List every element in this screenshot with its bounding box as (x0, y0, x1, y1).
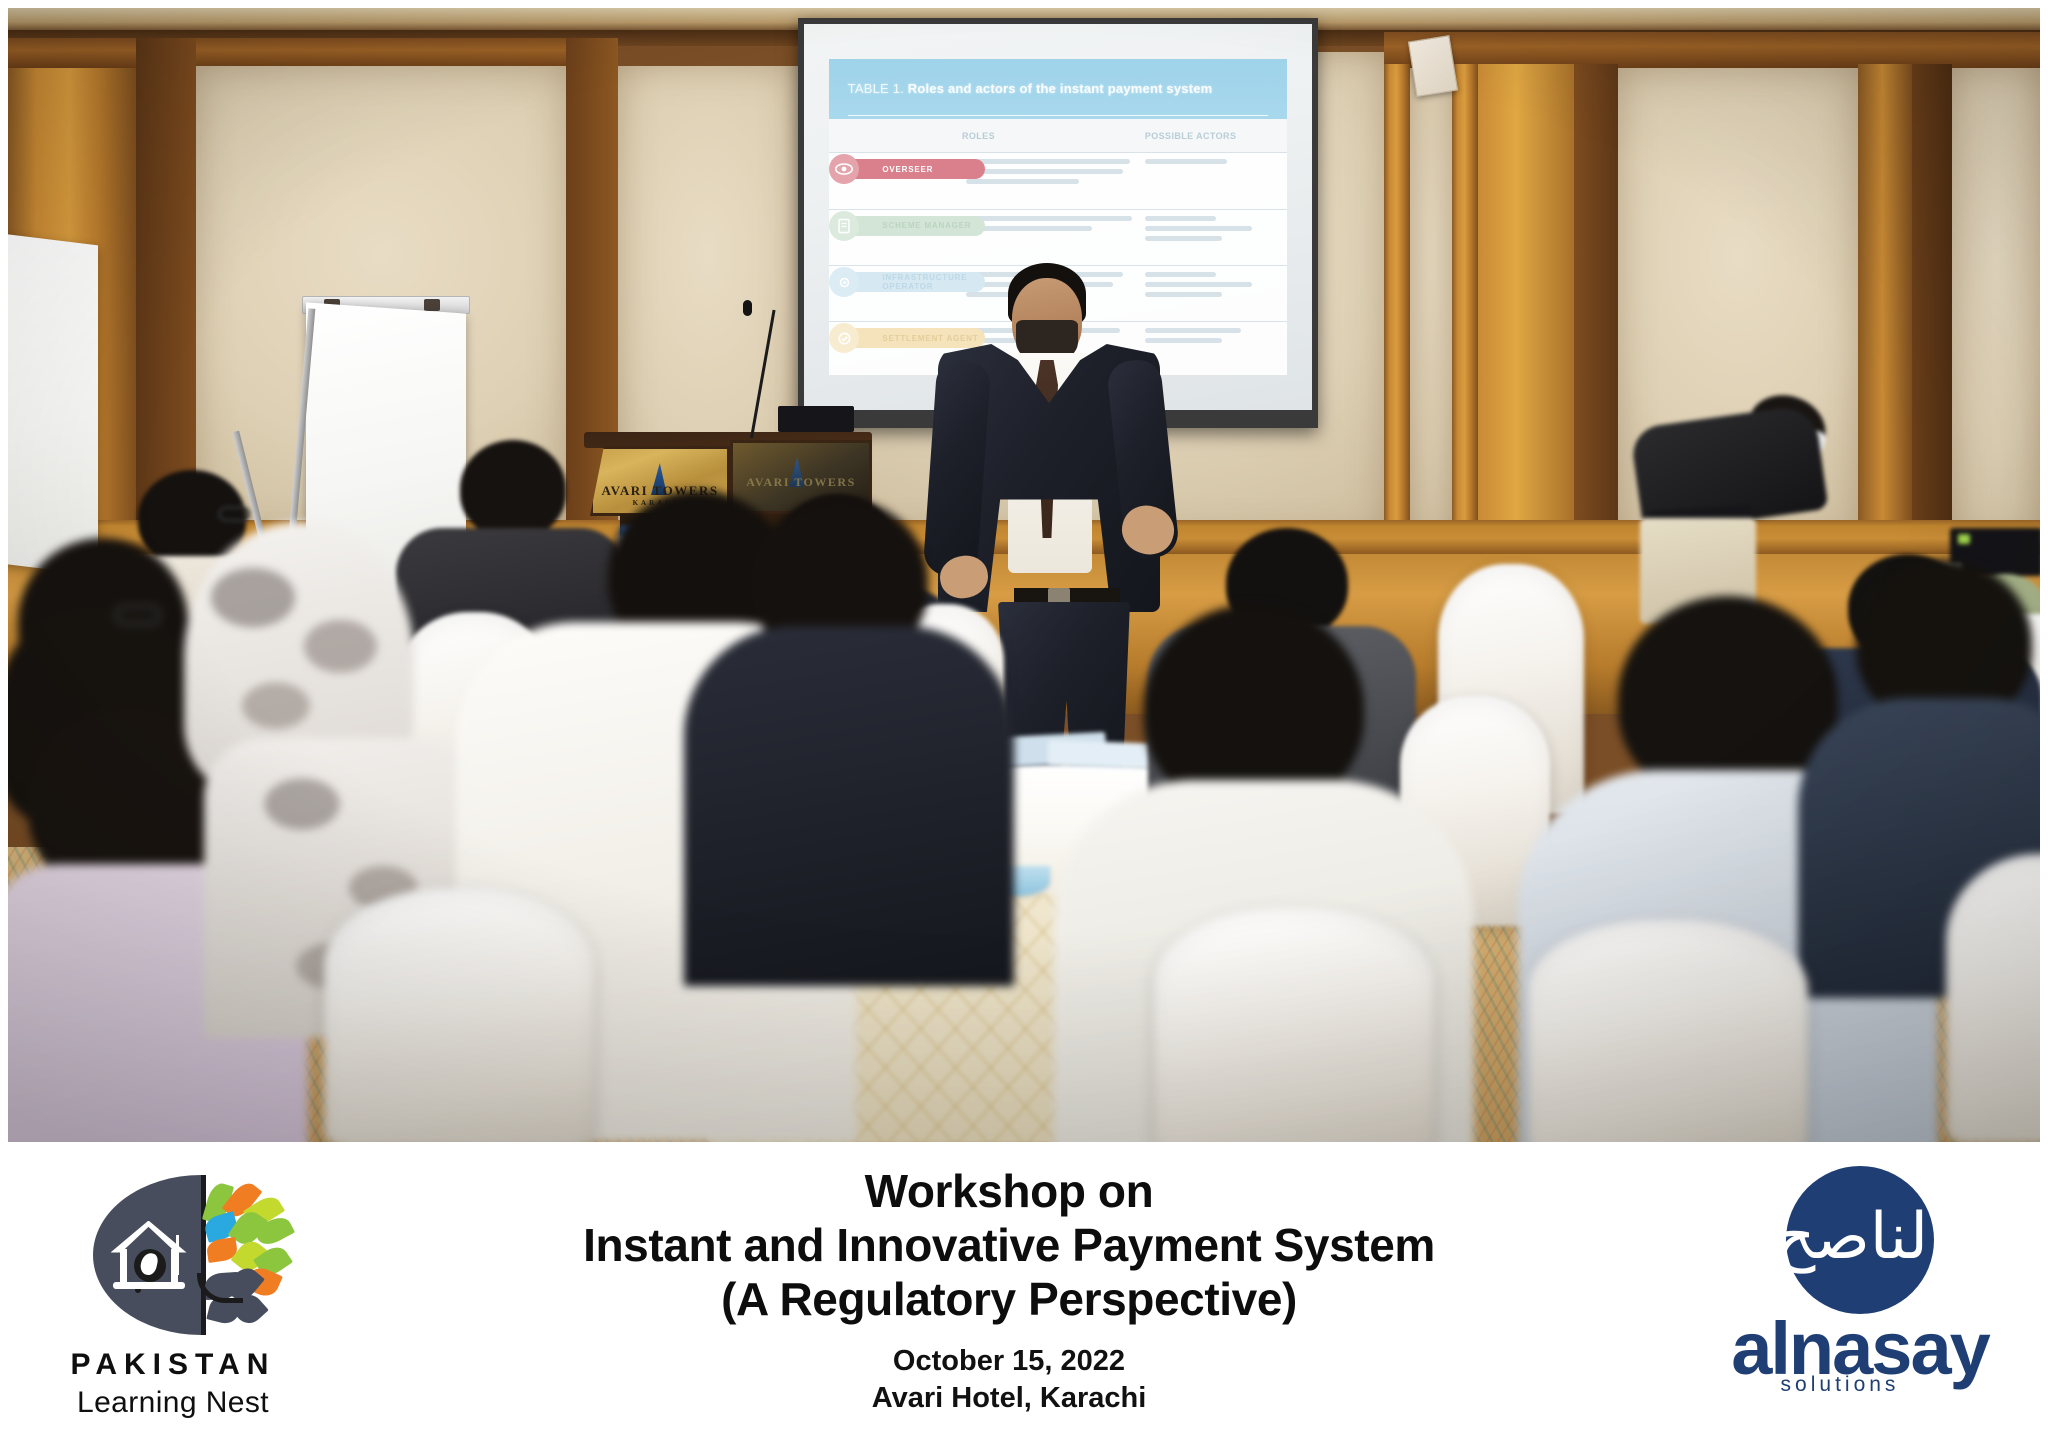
wood-column (136, 38, 196, 538)
slide-row: OVERSEER (829, 152, 1286, 208)
flipchart-paper (8, 231, 98, 576)
slide-row-role (962, 210, 1145, 236)
event-photo-poster: TABLE 1. Roles and actors of the instant… (0, 0, 2048, 1448)
slide-header: TABLE 1. Roles and actors of the instant… (829, 59, 1286, 119)
slide-row-actors (1145, 322, 1287, 348)
slide-title-text: TABLE 1. Roles and actors of the instant… (848, 81, 1213, 96)
pln-logo-word-secondary: Learning Nest (77, 1386, 269, 1420)
chair-cover (1528, 920, 1808, 1142)
pakistan-learning-nest-logo: PAKISTAN Learning Nest (8, 1163, 338, 1420)
birdhouse-wall-left (120, 1249, 127, 1283)
pln-tree-trunk (201, 1175, 206, 1335)
slide-row: SCHEME MANAGER (829, 209, 1286, 265)
caption-venue: Avari Hotel, Karachi (348, 1380, 1670, 1418)
wood-column (1384, 64, 1410, 544)
microphone-head-icon (743, 300, 752, 316)
birdhouse-wall-right (171, 1249, 178, 1283)
eyeglasses-icon (218, 506, 250, 522)
alnasay-arabic-calligraphy: الناصح (1774, 1205, 1946, 1269)
wood-column (1452, 64, 1478, 544)
check-circle-icon (829, 323, 859, 353)
wall-speaker-icon (1408, 35, 1458, 97)
caption-date: October 15, 2022 (348, 1343, 1670, 1381)
slide-table-label: TABLE 1. (848, 81, 904, 96)
event-caption-text: Workshop on Instant and Innovative Payme… (338, 1164, 1680, 1418)
slide-column-headers: ROLES POSSIBLE ACTORS (829, 119, 1286, 152)
podium-brand: AVARI TOWERS (733, 475, 869, 490)
caption-title-line3: (A Regulatory Perspective) (348, 1272, 1670, 1326)
slide-row-badge: OVERSEER (829, 159, 962, 181)
attendee-head (460, 440, 566, 538)
wood-column (1574, 64, 1618, 544)
alnasay-wordmark: alnasay (1731, 1316, 1989, 1381)
alnasay-circle-badge: الناصح (1786, 1166, 1934, 1314)
slide-row-actors (1145, 266, 1287, 302)
caption-title-line2: Instant and Innovative Payment System (348, 1218, 1670, 1272)
flipchart-clip (424, 299, 440, 311)
slide-row-badge: INFRASTRUCTURE OPERATOR (829, 272, 962, 294)
wood-column (1858, 64, 1912, 544)
monitor (778, 406, 854, 432)
slide-badge-label: SETTLEMENT AGENT (840, 328, 985, 348)
slide-row-role (962, 153, 1145, 189)
slide-underline (848, 115, 1269, 116)
slide-row-actors (1145, 153, 1287, 169)
wood-trim (8, 38, 568, 68)
eye-icon (829, 154, 859, 184)
chair-cover (1154, 908, 1434, 1142)
slide-row-badge: SETTLEMENT AGENT (829, 328, 962, 350)
caption-bar: PAKISTAN Learning Nest Workshop on Insta… (8, 1142, 2040, 1440)
pln-mark-icon (81, 1169, 266, 1344)
eyeglasses-icon (114, 604, 162, 626)
birdhouse-base (113, 1282, 185, 1289)
wall-panel (1952, 68, 2040, 542)
flipchart-left (8, 238, 98, 568)
slide-row-badge: SCHEME MANAGER (829, 216, 962, 238)
birdhouse-icon (111, 1221, 187, 1283)
chair-cover (1946, 854, 2040, 1142)
slide-col-roles: ROLES (962, 131, 1145, 141)
alnasay-tagline: solutions (1781, 1373, 1900, 1397)
slide-badge-label: SCHEME MANAGER (840, 216, 985, 236)
gear-icon (829, 267, 859, 297)
chair-cover (324, 888, 594, 1142)
wall-panel (1410, 68, 1452, 542)
wood-column (1912, 64, 1952, 544)
document-icon (829, 211, 859, 241)
wood-trim (1384, 32, 2040, 68)
slide-badge-label: INFRASTRUCTURE OPERATOR (840, 272, 985, 292)
wood-column (1478, 64, 1574, 544)
attendee-clothing (684, 626, 1014, 986)
slide-col-actors: POSSIBLE ACTORS (1145, 131, 1287, 141)
slide-badge-label: OVERSEER (840, 159, 985, 179)
presenter-belt-buckle (1048, 588, 1070, 604)
alnasay-logo: الناصح alnasay solutions (1680, 1166, 2040, 1416)
pln-logo-word-primary: PAKISTAN (71, 1348, 276, 1382)
slide-row-actors (1145, 210, 1287, 246)
caption-title-line1: Workshop on (348, 1164, 1670, 1218)
av-indicator-light (1958, 534, 1970, 544)
conference-photo: TABLE 1. Roles and actors of the instant… (8, 8, 2040, 1142)
alnasay-mark-icon: الناصح alnasay solutions (1710, 1166, 2010, 1416)
slide-title-main: Roles and actors of the instant payment … (908, 81, 1213, 96)
